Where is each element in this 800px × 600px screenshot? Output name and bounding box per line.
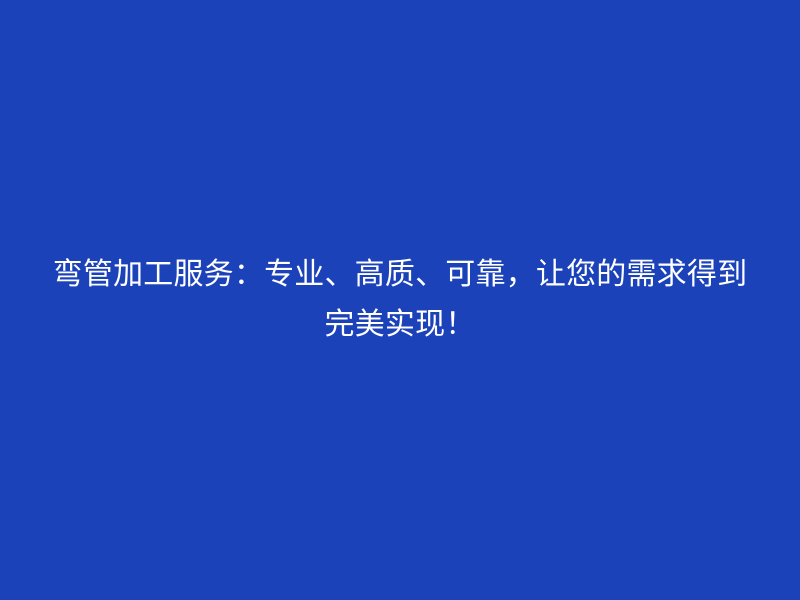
headline-container: 弯管加工服务：专业、高质、可靠，让您的需求得到完美实现！ [50, 250, 750, 350]
banner-headline: 弯管加工服务：专业、高质、可靠，让您的需求得到完美实现！ [50, 250, 750, 350]
promo-banner: 弯管加工服务：专业、高质、可靠，让您的需求得到完美实现！ [0, 0, 800, 600]
